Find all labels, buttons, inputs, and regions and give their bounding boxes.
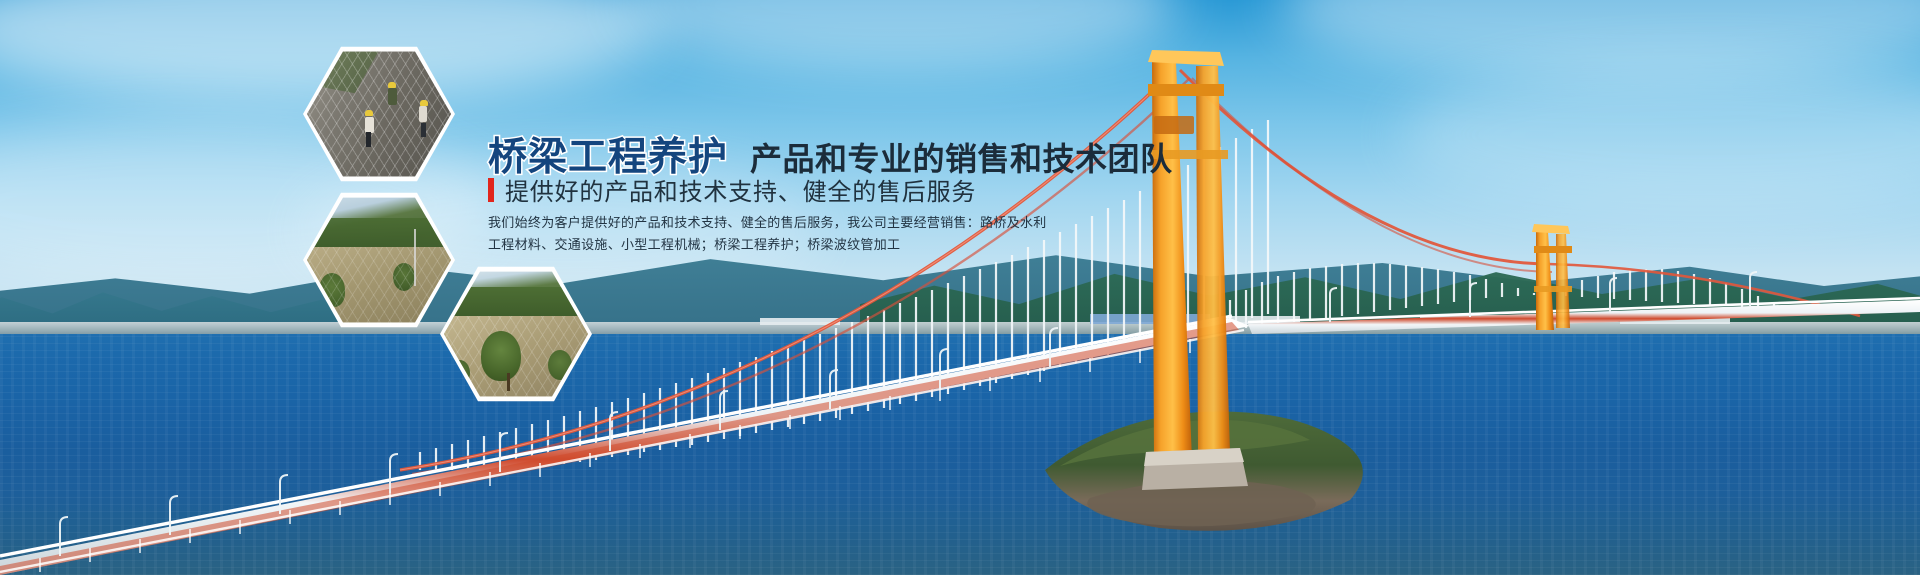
subheadline-group: 提供好的产品和技术支持、健全的售后服务 (488, 172, 976, 207)
description-line-2: 工程材料、交通设施、小型工程机械；桥梁工程养护；桥梁波纹管加工 (488, 234, 988, 256)
subheadline-text: 提供好的产品和技术支持、健全的售后服务 (505, 172, 976, 207)
suspension-bridge (0, 0, 1920, 575)
description-line-1: 我们始终为客户提供好的产品和技术支持、健全的售后服务，我公司主要经营销售：路桥及… (488, 212, 988, 234)
hero-banner: 桥梁工程养护 产品和专业的销售和技术团队 提供好的产品和技术支持、健全的售后服务… (0, 0, 1920, 575)
description-paragraph: 我们始终为客户提供好的产品和技术支持、健全的售后服务，我公司主要经营销售：路桥及… (488, 212, 988, 256)
accent-bar-icon (488, 178, 494, 202)
